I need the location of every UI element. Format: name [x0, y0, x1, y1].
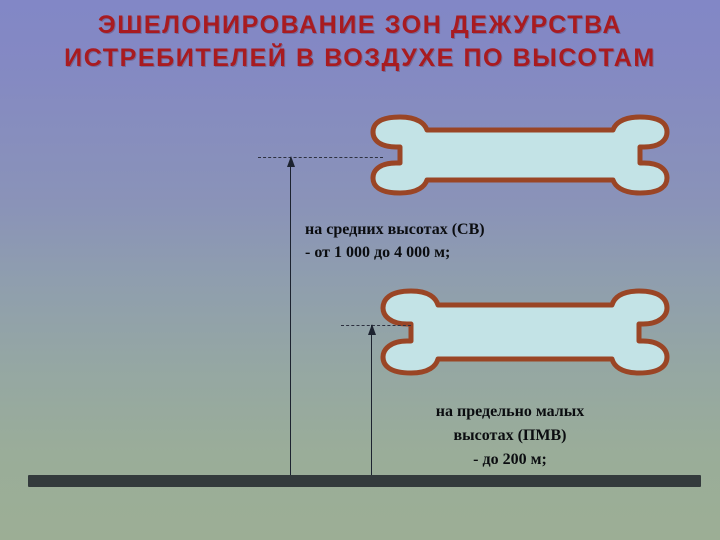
slide-canvas: ЭШЕЛОНИРОВАНИЕ ЗОН ДЕЖУРСТВА ИСТРЕБИТЕЛЕ… [0, 0, 720, 540]
page-title: ЭШЕЛОНИРОВАНИЕ ЗОН ДЕЖУРСТВА ИСТРЕБИТЕЛЕ… [0, 9, 720, 75]
altitude-arrow-medium [290, 157, 291, 479]
leader-line-medium-altitude [258, 157, 383, 158]
bone-shape-medium-altitude [370, 112, 670, 198]
altitude-arrow-extremely-low [371, 325, 372, 479]
caption-extremely-low-altitude: на предельно малых высотах (ПМВ) - до 20… [380, 400, 640, 472]
leader-line-extremely-low-altitude [341, 325, 411, 326]
caption-medium-altitude: на средних высотах (СВ) - от 1 000 до 4 … [305, 218, 605, 264]
zone-banner-medium-altitude [370, 112, 670, 198]
zone-banner-extremely-low-altitude [380, 286, 670, 378]
ground-line [28, 475, 701, 487]
bone-shape-extremely-low-altitude [380, 286, 670, 378]
